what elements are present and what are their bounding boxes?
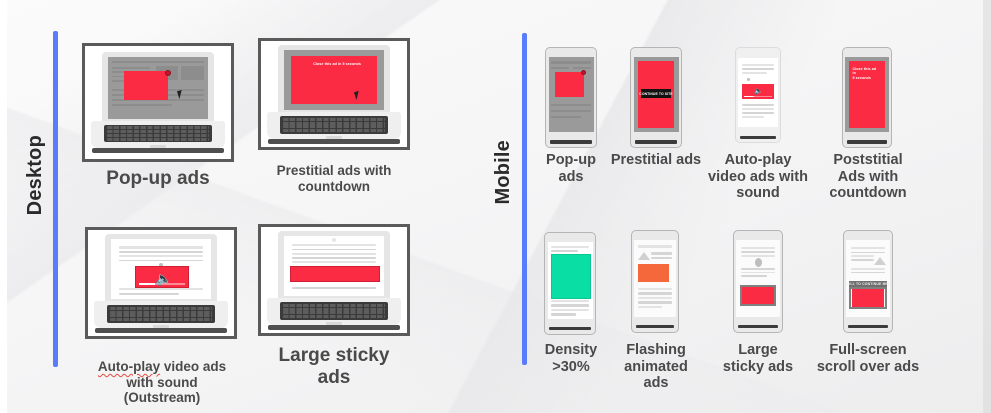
mouse-cursor-icon [354, 90, 364, 100]
caption-m-density: Density >30% [532, 342, 610, 375]
phone-density[interactable] [544, 232, 596, 335]
desktop-section-label: Desktop [24, 135, 47, 215]
mobile-section-label: Mobile [492, 140, 515, 205]
laptop-screen: 🔈 [111, 239, 212, 299]
scroll-ad-frame [849, 287, 887, 309]
caption-line-2: animated ads [624, 359, 688, 392]
caption-line-3: countdown [829, 185, 906, 201]
caption-line-2: Ads with [838, 169, 898, 185]
sticky-ad[interactable] [290, 266, 380, 282]
caption-m-prestitial-ads: Prestitial ads [606, 152, 706, 169]
mobile-accent-bar [522, 33, 527, 365]
phone-home-bar [848, 325, 888, 328]
phone-home-bar [635, 140, 677, 143]
phone-large-sticky[interactable] [733, 230, 783, 333]
caption-line-1: Pop-up [546, 152, 596, 168]
desktop-section: Desktop [0, 0, 470, 413]
laptop-lid: Close this ad in 5 seconds [278, 45, 391, 114]
laptop-screen [284, 236, 385, 296]
caption-word-autoplay: Auto-play [98, 359, 160, 374]
caption-line-1: Auto-play [725, 152, 792, 168]
caption-line-1b: video ads [160, 359, 226, 374]
phone-home-bar [740, 136, 777, 139]
flashing-ad[interactable] [638, 264, 669, 282]
phone-fullscreen-scroll[interactable]: SCROLL TO CONTINUE BELOW [843, 230, 893, 333]
laptop-screen [108, 57, 209, 119]
laptop-lid [278, 231, 391, 300]
phone-screen: CONTINUE TO SITE [634, 57, 679, 132]
caption-line-1: Full-screen [829, 342, 906, 358]
avatar-icon [755, 258, 762, 267]
countdown-line-2: 5 seconds [852, 76, 870, 80]
image-placeholder-icon [638, 252, 650, 260]
caption-m-fullscreen-scroll: Full-screen scroll over ads [815, 342, 921, 375]
caption-line-2: ads [559, 169, 584, 185]
laptop-lid [102, 52, 215, 123]
caption-line-1: Poststitial [833, 152, 902, 168]
card-prestitial-countdown[interactable]: Close this ad in 5 seconds [258, 38, 410, 150]
laptop-foot [95, 328, 226, 333]
caption-line-1: Large [738, 342, 778, 358]
card-large-sticky-ads[interactable] [258, 224, 410, 336]
phone-pop-up-ads[interactable] [545, 47, 597, 148]
laptop-foot [268, 325, 399, 330]
caption-line-1: Density [545, 342, 597, 358]
prestitial-ad[interactable]: CONTINUE TO SITE [638, 61, 675, 127]
continue-to-site-button[interactable]: CONTINUE TO SITE [641, 89, 671, 98]
phone-home-bar [549, 327, 591, 330]
laptop-keyboard [104, 125, 211, 143]
sticky-ad[interactable] [740, 285, 776, 306]
laptop-keyboard [107, 305, 214, 322]
prestitial-ad[interactable]: Close this ad in 5 seconds [291, 56, 377, 104]
caption-prestitial-countdown: Prestitial ads with countdown [252, 163, 416, 194]
phone-home-bar [738, 325, 778, 328]
phone-screen [548, 242, 593, 319]
phone-screen [736, 240, 779, 317]
phone-screen [549, 57, 594, 132]
popup-ad[interactable] [124, 71, 168, 101]
scroll-banner-label: SCROLL TO CONTINUE BELOW [846, 282, 889, 286]
caption-line-2: with sound [126, 375, 197, 390]
poststitial-ad[interactable]: Close this ad in 5 seconds [849, 61, 885, 127]
caption-line-2: >30% [552, 359, 590, 375]
caption-m-pop-up-ads: Pop-up ads [531, 152, 611, 185]
caption-m-flashing: Flashing animated ads [610, 342, 702, 392]
caption-m-poststitial: Poststitial Ads with countdown [820, 152, 916, 202]
laptop-keyboard [280, 302, 387, 319]
laptop-foot [268, 139, 399, 144]
video-progress-bar[interactable] [139, 283, 185, 285]
caption-line-2: ads [318, 367, 351, 388]
caption-line-1: Large sticky [279, 345, 390, 366]
caption-line-1: Prestitial ads with [277, 163, 392, 178]
caption-line-3: (Outstream) [124, 390, 201, 405]
phone-home-bar [550, 140, 592, 143]
caption-line-2: countdown [298, 179, 370, 194]
phone-screen: 🔈 [738, 58, 778, 127]
phone-screen: SCROLL TO CONTINUE BELOW [846, 240, 889, 317]
laptop-foot [92, 148, 223, 153]
video-ad[interactable]: 🔈 [135, 266, 189, 289]
phone-home-bar [636, 325, 675, 328]
laptop-screen: Close this ad in 5 seconds [284, 50, 385, 110]
popup-ad[interactable] [555, 72, 584, 97]
caption-large-sticky-ads: Large sticky ads [254, 345, 414, 389]
desktop-accent-bar [53, 31, 58, 367]
caption-line-3: sound [736, 185, 780, 201]
image-placeholder-icon [874, 257, 886, 265]
video-progress-bar[interactable] [744, 96, 772, 98]
phone-home-bar [847, 140, 887, 143]
page-notch-icon [332, 238, 336, 242]
laptop-illustration: Close this ad in 5 seconds [267, 45, 401, 147]
caption-line-2: sticky ads [723, 359, 793, 375]
card-autoplay-video-sound[interactable]: 🔈 [85, 227, 237, 339]
caption-m-large-sticky: Large sticky ads [715, 342, 801, 375]
caption-line-2: scroll over ads [817, 359, 919, 375]
caption-pop-up-ads: Pop-up ads [82, 168, 234, 190]
countdown-text: Close this ad in 5 seconds [852, 67, 877, 80]
speaker-icon[interactable]: 🔈 [754, 88, 763, 95]
countdown-line-1: Close this ad in [852, 67, 876, 75]
phone-prestitial-ads[interactable]: CONTINUE TO SITE [630, 47, 682, 148]
laptop-illustration [267, 231, 401, 333]
countdown-text: Close this ad in 5 seconds [313, 62, 361, 66]
video-ad[interactable]: 🔈 [742, 84, 774, 99]
continue-button-label: CONTINUE TO SITE [639, 92, 672, 96]
laptop-illustration [91, 52, 225, 156]
caption-line-1: Flashing [626, 342, 686, 358]
density-ad[interactable] [551, 254, 591, 298]
laptop-keyboard [280, 116, 387, 133]
laptop-lid: 🔈 [105, 234, 218, 303]
laptop-illustration: 🔈 [94, 234, 228, 336]
caption-m-autoplay-video: Auto-play video ads with sound [706, 152, 810, 202]
caption-line-2: video ads with [708, 169, 808, 185]
phone-autoplay-video[interactable]: 🔈 [735, 47, 781, 143]
ad-close-icon[interactable] [165, 70, 171, 76]
card-pop-up-ads[interactable] [82, 43, 234, 162]
phone-screen: Close this ad in 5 seconds [845, 57, 888, 132]
phone-poststitial-ads[interactable]: Close this ad in 5 seconds [842, 47, 892, 148]
video-handle-icon [747, 78, 750, 81]
mobile-section: Mobile Pop-up ads CONTINUE TO SITE [470, 0, 991, 413]
caption-autoplay-video-sound: Auto-play video ads with sound (Outstrea… [80, 359, 244, 406]
phone-flashing-ads[interactable] [631, 230, 679, 333]
phone-screen [634, 240, 675, 317]
